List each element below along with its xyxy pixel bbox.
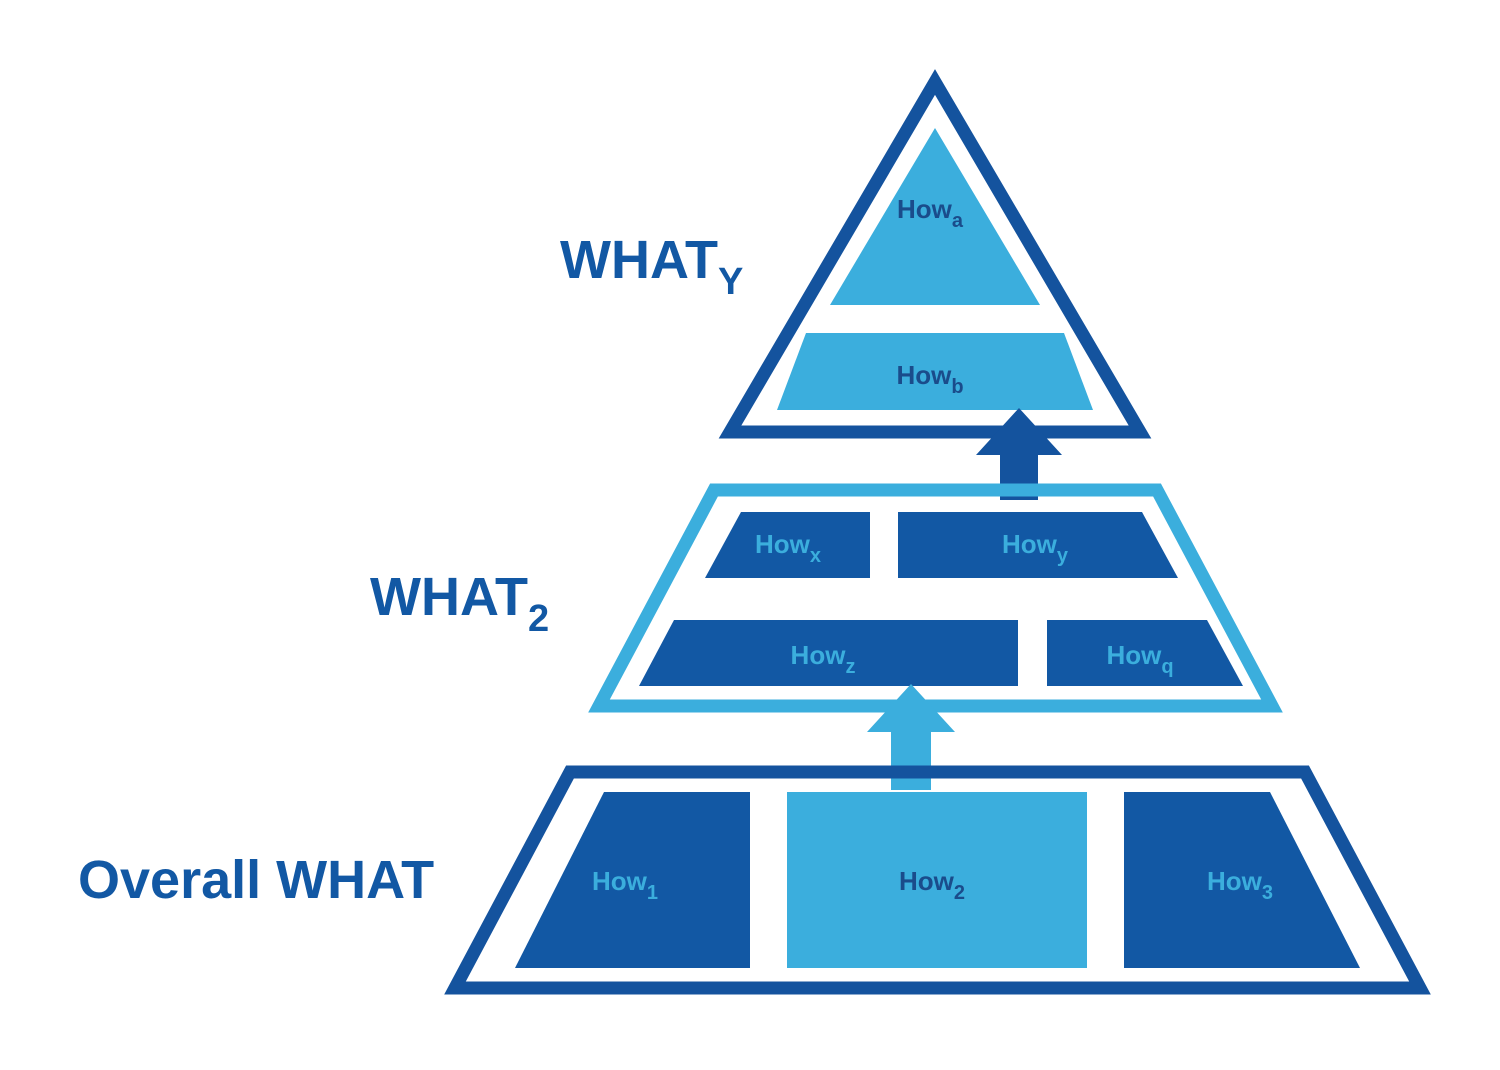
- tier-bottom-group[interactable]: How1 How2 How3: [455, 772, 1420, 988]
- block-how-b-label-main: How: [896, 360, 952, 390]
- block-how-x-label-sub: x: [810, 545, 821, 567]
- tier-top-group[interactable]: Howa Howb: [730, 82, 1140, 432]
- block-how-1-label-sub: 1: [647, 882, 658, 904]
- block-how-y-label-sub: y: [1057, 545, 1069, 567]
- block-how-b-label-sub: b: [951, 376, 963, 398]
- pyramid-canvas: Howa Howb WHATY Howx: [0, 0, 1500, 1070]
- block-how-1-label-main: How: [592, 866, 648, 896]
- block-how-2-label-main: How: [899, 866, 955, 896]
- block-how-q-label-sub: q: [1161, 656, 1173, 678]
- tier-middle-label: WHAT2: [370, 567, 549, 640]
- block-how-z-label-sub: z: [845, 656, 855, 678]
- tier-middle-label-sub: 2: [528, 598, 549, 640]
- tier-top-label-main: WHAT: [560, 230, 718, 290]
- tier-top-label: WHATY: [560, 230, 743, 303]
- block-how-a-label-sub: a: [952, 210, 964, 232]
- block-how-3-label-sub: 3: [1262, 882, 1273, 904]
- block-how-3-label-main: How: [1207, 866, 1263, 896]
- block-how-2-label-sub: 2: [954, 882, 965, 904]
- block-how-y-label-main: How: [1002, 529, 1058, 559]
- block-how-z-label-main: How: [791, 640, 847, 670]
- pyramid-diagram: Howa Howb WHATY Howx: [0, 0, 1500, 1070]
- block-how-a-label-main: How: [897, 194, 953, 224]
- tier-bottom-label: Overall WHAT: [78, 850, 434, 910]
- tier-middle-group[interactable]: Howx Howy Howz Howq: [599, 490, 1272, 706]
- tier-top-label-sub: Y: [718, 261, 743, 303]
- block-how-q-label-main: How: [1106, 640, 1162, 670]
- block-how-x-label-main: How: [755, 529, 811, 559]
- tier-middle-label-main: WHAT: [370, 567, 528, 627]
